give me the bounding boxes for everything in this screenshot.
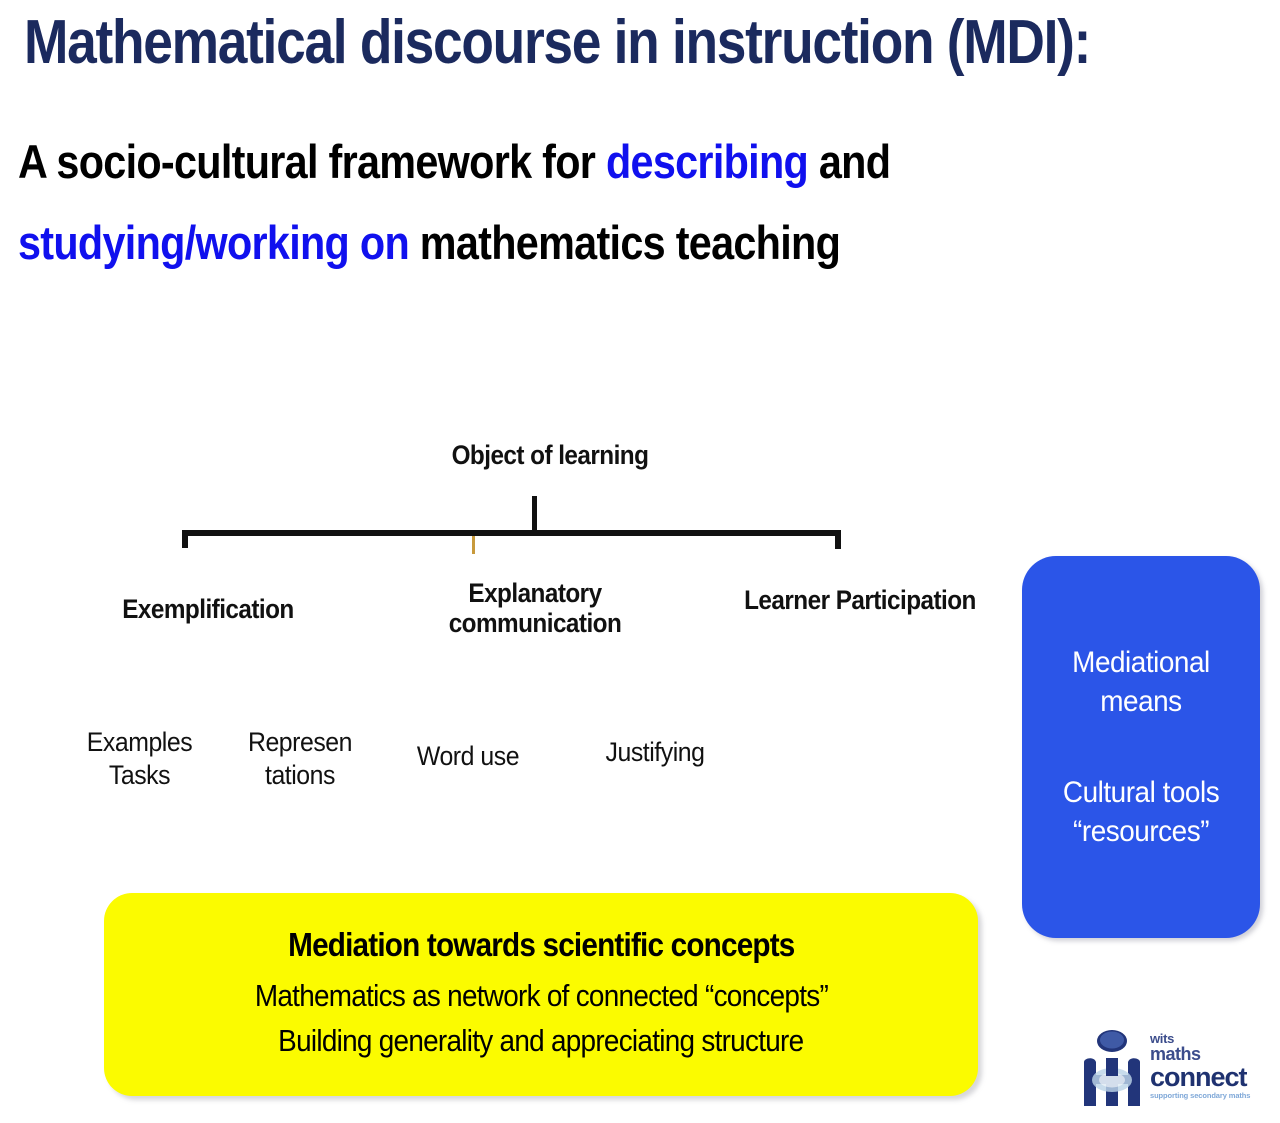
- diagram-branch-learner-participation: Learner Participation: [730, 585, 991, 615]
- logo-tagline: supporting secondary maths: [1150, 1092, 1272, 1100]
- page-subtitle: A socio-cultural framework for describin…: [18, 122, 1074, 284]
- subtitle-part-2: and: [808, 135, 890, 188]
- mediation-box-line-1: Mathematics as network of connected “con…: [254, 974, 827, 1019]
- mediation-concepts-box: Mediation towards scientific concepts Ma…: [104, 893, 978, 1096]
- diagram-leaf-representations: Represen tations: [213, 726, 388, 792]
- page-title: Mathematical discourse in instruction (M…: [24, 10, 1039, 75]
- diagram-tick-right: [835, 530, 841, 549]
- diagram-leaf-examples-tasks: Examples Tasks: [50, 726, 229, 792]
- mediational-means-text: Mediational means: [1072, 643, 1210, 721]
- slide-canvas: Mathematical discourse in instruction (M…: [0, 0, 1280, 1123]
- diagram-tick-middle: [472, 536, 475, 554]
- diagram-leaf-justifying: Justifying: [563, 736, 747, 769]
- logo-connect-text: connect: [1150, 1064, 1272, 1091]
- cultural-tools-text: Cultural tools “resources”: [1063, 773, 1219, 851]
- diagram-branch-bar: [182, 530, 841, 536]
- logo-figure-icon: [1072, 1028, 1152, 1110]
- logo-wordmark: wits maths connect supporting secondary …: [1150, 1032, 1272, 1099]
- diagram-tick-left: [182, 530, 188, 548]
- diagram-root-stem: [532, 496, 537, 534]
- subtitle-highlight-describing: describing: [606, 135, 808, 188]
- diagram-root-node: Object of learning: [451, 440, 649, 471]
- subtitle-highlight-studying-working-on: studying/working on: [18, 216, 409, 269]
- mediational-means-box: Mediational means Cultural tools “resour…: [1022, 556, 1260, 938]
- wits-maths-connect-logo: wits maths connect supporting secondary …: [1072, 1028, 1272, 1110]
- diagram-leaf-word-use: Word use: [376, 740, 560, 773]
- subtitle-part-3: mathematics teaching: [409, 216, 840, 269]
- diagram-branch-exemplification: Exemplification: [100, 594, 316, 624]
- mediation-box-line-2: Building generality and appreciating str…: [278, 1019, 803, 1064]
- diagram-branch-explanatory-communication: Explanatory communication: [405, 578, 666, 638]
- mediation-box-heading: Mediation towards scientific concepts: [288, 926, 794, 964]
- subtitle-part-1: A socio-cultural framework for: [18, 135, 606, 188]
